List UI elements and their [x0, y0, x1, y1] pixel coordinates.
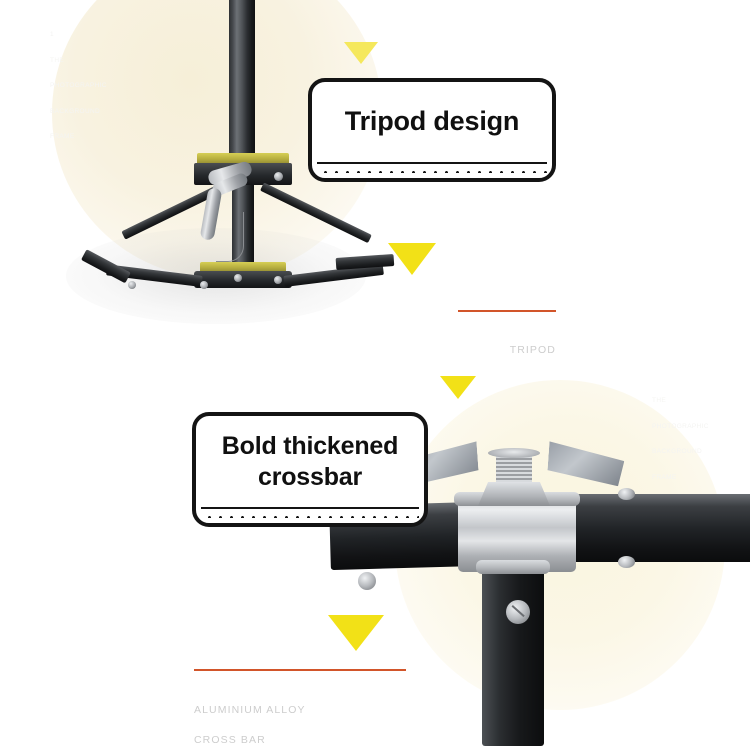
bolt-top-cap: [488, 448, 540, 458]
riser-tube: [482, 566, 544, 746]
callout-crossbar-line-1: Bold thickened: [222, 431, 398, 462]
rivet-base-center: [234, 274, 242, 282]
rivet-base-left: [128, 281, 136, 289]
rivet-hub-right: [274, 172, 283, 181]
crossbar-tube-right: [568, 494, 750, 562]
caption-crossbar-line-2: CROSS BAR: [194, 733, 434, 748]
caption-rule-bottom: [194, 669, 406, 671]
wing-nut-right-wing: [547, 441, 626, 486]
caption-rule-top: [458, 310, 556, 312]
panel-aluminium-crossbar: THE PHOTOGRAPHIC BACKGROUND FRAME: [0, 372, 750, 750]
watermark-line-2: PHOTOGRAPHIC: [652, 423, 709, 432]
caption-tripod-line-1: TRIPOD: [356, 343, 556, 358]
arrow-marker-large-icon: [388, 243, 436, 275]
caption-crossbar-line-1: ALUMINIUM ALLOY: [194, 703, 434, 718]
product-feature-image: 1 THE PHOTOGRAPHIC BACKGROUND FRAME: [0, 0, 750, 750]
panel-tripod-support: 1 THE PHOTOGRAPHIC BACKGROUND FRAME: [0, 0, 750, 368]
arrow-marker-small-icon: [344, 42, 378, 64]
callout-tripod-design: Tripod design: [308, 78, 556, 182]
perforated-strip: [201, 507, 419, 518]
callout-crossbar-label: Bold thickened crossbar: [222, 431, 398, 493]
watermark-line-1: THE: [652, 397, 709, 406]
arrow-marker-large-icon: [328, 615, 384, 651]
crossbar-screw-right-top: [618, 488, 635, 500]
wing-nut-body: [478, 482, 550, 506]
crossbar-screw-left: [358, 572, 376, 590]
caption-crossbar: ALUMINIUM ALLOY CROSS BAR: [194, 688, 434, 750]
rivet-base-mid-right: [274, 276, 282, 284]
callout-tripod-label: Tripod design: [345, 105, 519, 138]
clamp-collar-bottom: [476, 560, 550, 574]
watermark-line-3: BACKGROUND: [652, 448, 709, 457]
callout-bold-thickened-crossbar: Bold thickened crossbar: [192, 412, 428, 527]
leg-foot-right: [336, 254, 395, 270]
rivet-base-mid-left: [200, 281, 208, 289]
crossbar-screw-right-bottom: [618, 556, 635, 568]
center-column-upper: [229, 0, 255, 166]
caption-tripod: TRIPOD SUPPORT DESIGN: [356, 328, 556, 368]
lever-wire: [216, 212, 244, 262]
arrow-marker-small-icon: [440, 376, 476, 399]
perforated-strip: [317, 162, 547, 173]
callout-crossbar-line-2: crossbar: [222, 462, 398, 493]
